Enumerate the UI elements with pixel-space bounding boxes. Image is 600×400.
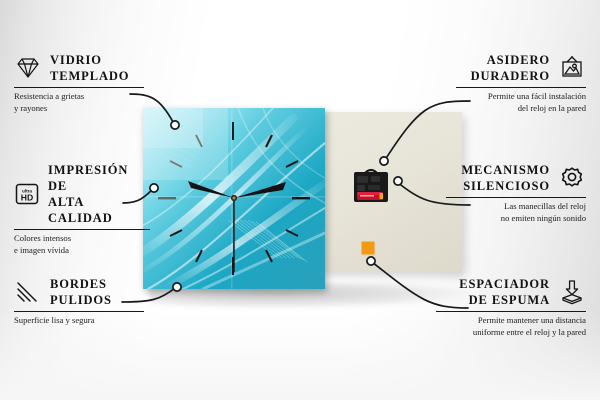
ultra-hd-badge-icon: ultra HD — [14, 182, 40, 206]
feature-description: Permite mantener una distancia uniforme … — [436, 315, 586, 339]
feature-title: IMPRESIÓN DE ALTA CALIDAD — [48, 162, 150, 226]
feature-bordes-pulidos: BORDES PULIDOS Superficie lisa y segura — [14, 276, 144, 327]
connector-dot-espaciador — [367, 257, 375, 265]
feature-espaciador-de-espuma: ESPACIADOR DE ESPUMA Permite mantener un… — [436, 276, 586, 339]
feature-title: ASIDERO DURADERO — [471, 52, 550, 84]
connector-dot-asidero — [380, 157, 388, 165]
connector-dot-mecanismo — [394, 177, 402, 185]
feature-description: Superficie lisa y segura — [14, 315, 144, 327]
connector-dot-vidrio — [171, 121, 179, 129]
feature-divider — [14, 311, 144, 312]
polished-edges-icon — [14, 279, 42, 305]
infographic-canvas: VIDRIO TEMPLADO Resistencia a grietas y … — [0, 0, 600, 400]
connector-dot-bordes — [173, 283, 181, 291]
feature-divider — [446, 197, 586, 198]
feature-impresion-alta-calidad: ultra HD IMPRESIÓN DE ALTA CALIDAD Color… — [14, 162, 150, 257]
feature-divider — [436, 311, 586, 312]
feature-title: ESPACIADOR DE ESPUMA — [459, 276, 550, 308]
svg-text:HD: HD — [21, 192, 33, 202]
feature-divider — [456, 87, 586, 88]
feature-description: Resistencia a grietas y rayones — [14, 91, 144, 115]
arrow-onto-pad-icon — [558, 279, 586, 305]
feature-divider — [14, 229, 150, 230]
feature-description: Las manecillas del reloj no emiten ningú… — [446, 201, 586, 225]
feature-mecanismo-silencioso: MECANISMO SILENCIOSO Las manecillas del … — [446, 162, 586, 225]
gear-icon — [558, 165, 586, 191]
feature-title: VIDRIO TEMPLADO — [50, 52, 129, 84]
feature-description: Permite una fácil instalación del reloj … — [456, 91, 586, 115]
feature-description: Colores intensos e imagen vívida — [14, 233, 150, 257]
feature-asidero-duradero: ASIDERO DURADERO Permite una fácil insta… — [456, 52, 586, 115]
feature-title: MECANISMO SILENCIOSO — [461, 162, 550, 194]
picture-frame-hanging-icon — [558, 55, 586, 81]
diamond-icon — [14, 55, 42, 81]
connector-dot-impresion — [150, 184, 158, 192]
feature-divider — [14, 87, 144, 88]
feature-title: BORDES PULIDOS — [50, 276, 112, 308]
feature-vidrio-templado: VIDRIO TEMPLADO Resistencia a grietas y … — [14, 52, 144, 115]
